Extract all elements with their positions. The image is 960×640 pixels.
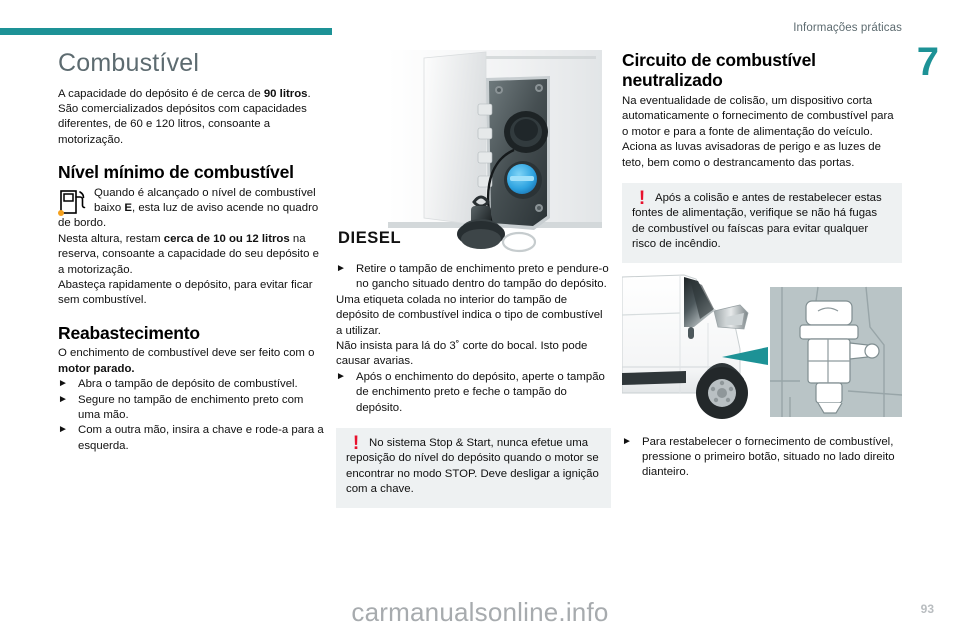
- intro-text-1: A capacidade do depósito é de cerca de: [58, 88, 264, 100]
- figure-fuel-filler: DIESEL: [336, 50, 602, 256]
- heading-fuel-cutoff: Circuito de combustível neutralizado: [622, 50, 902, 91]
- note-after-collision-text: Após a colisão e antes de restabelecer e…: [632, 192, 882, 250]
- note-stop-start-text: No sistema Stop & Start, nunca efetue um…: [346, 437, 599, 495]
- mid-step-remove-cap: ►Retire o tampão de enchimento preto e p…: [336, 262, 611, 293]
- note-stop-start: ! No sistema Stop & Start, nunca efetue …: [336, 428, 611, 508]
- arrow-icon: ►: [336, 261, 356, 276]
- mid-step-remove-cap-text: Retire o tampão de enchimento preto e pe…: [356, 263, 609, 290]
- note-after-collision: ! Após a colisão e antes de restabelecer…: [622, 183, 902, 263]
- diesel-label: DIESEL: [338, 231, 401, 246]
- figure-van-cutoff-switch: [622, 271, 902, 429]
- reserve-paragraph: Nesta altura, restam cerca de 10 ou 12 l…: [58, 232, 326, 278]
- refuel-engine-off-bold: motor parado.: [58, 363, 135, 375]
- site-watermark: carmanualsonline.info: [0, 597, 960, 628]
- reserve-litres-bold: cerca de 10 ou 12 litros: [164, 233, 290, 245]
- arrow-icon: ►: [336, 369, 356, 384]
- middle-column: DIESEL ►Retire o tampão de enchimento pr…: [336, 50, 611, 508]
- right-column: Circuito de combustível neutralizado Na …: [622, 50, 902, 481]
- cutoff-paragraph-1: Na eventualidade de colisão, um disposit…: [622, 94, 902, 140]
- cutoff-paragraph-2: Aciona as luvas avisadoras de perigo e a…: [622, 140, 902, 171]
- chapter-number: 7: [917, 42, 938, 82]
- min-level-paragraph: Quando é alcançado o nível de combustíve…: [58, 186, 326, 232]
- heading-min-fuel-level: Nível mínimo de combustível: [58, 162, 326, 182]
- left-column: Combustível A capacidade do depósito é d…: [58, 50, 326, 454]
- refuel-step-2-text: Segure no tampão de enchimento preto com…: [78, 394, 303, 421]
- heading-refuelling: Reabastecimento: [58, 323, 326, 343]
- refuel-step-1: ►Abra o tampão de depósito de combustíve…: [58, 377, 326, 392]
- mid-label-info: Uma etiqueta colada no interior do tampã…: [336, 293, 611, 339]
- page-number: 93: [921, 602, 934, 616]
- refuel-step-3: ►Com a outra mão, insira a chave e rode-…: [58, 423, 326, 454]
- exclamation-icon: !: [634, 192, 650, 206]
- fuel-pump-icon: [58, 188, 88, 216]
- refuel-intro-paragraph: O enchimento de combustível deve ser fei…: [58, 346, 326, 377]
- exclamation-icon: !: [348, 437, 364, 451]
- arrow-icon: ►: [58, 376, 78, 391]
- running-head: Informações práticas: [793, 22, 902, 34]
- intro-paragraph: A capacidade do depósito é de cerca de 9…: [58, 87, 326, 149]
- step-restore-supply: ►Para restabelecer o fornecimento de com…: [622, 435, 902, 481]
- arrow-icon: ►: [622, 434, 642, 449]
- refuel-step-1-text: Abra o tampão de depósito de combustível…: [78, 378, 298, 390]
- arrow-icon: ►: [58, 422, 78, 437]
- refuel-step-2: ►Segure no tampão de enchimento preto co…: [58, 393, 326, 424]
- mid-nozzle-warning: Não insista para lá do 3˚ corte do bocal…: [336, 339, 611, 370]
- low-fuel-indicator-dot: [58, 210, 64, 216]
- mid-step-after-fill-text: Após o enchimento do depósito, aperte o …: [356, 371, 605, 414]
- refill-fast-paragraph: Abasteça rapidamente o depósito, para ev…: [58, 278, 326, 309]
- min-level-e-label: E: [124, 202, 132, 214]
- intro-text-2: .: [308, 88, 311, 100]
- mid-step-after-fill: ►Após o enchimento do depósito, aperte o…: [336, 370, 611, 416]
- refuel-intro-text: O enchimento de combustível deve ser fei…: [58, 347, 314, 359]
- refuel-step-3-text: Com a outra mão, insira a chave e rode-a…: [78, 424, 324, 451]
- arrow-icon: ►: [58, 392, 78, 407]
- step-restore-supply-text: Para restabelecer o fornecimento de comb…: [642, 436, 895, 479]
- intro-capacity-bold: 90 litros: [264, 88, 308, 100]
- reserve-text-1: Nesta altura, restam: [58, 233, 164, 245]
- page-title: Combustível: [58, 50, 326, 78]
- page-header: Informações práticas 7: [0, 0, 960, 46]
- header-rule: [0, 28, 332, 35]
- intro-text-rest: São comercializados depósitos com capaci…: [58, 103, 307, 146]
